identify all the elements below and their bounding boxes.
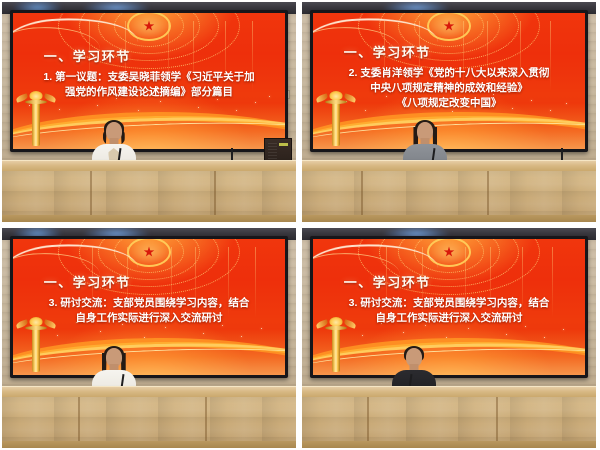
slide-body-line: 《八项规定改变中国》 xyxy=(327,96,572,111)
meeting-room-background: 一、学习环节 3. 研讨交流：支部党员围绕学习内容，结合 自身工作实际进行深入交… xyxy=(2,228,296,448)
slide-body-line: 强党的作风建设论述摘编》部分篇目 xyxy=(27,85,272,100)
photo-collage: 一、学习环节 1. 第一议题：支委吴晓菲领学《习近平关于加 强党的作风建设论述摘… xyxy=(0,0,600,450)
photo-panel-bottom-left: 一、学习环节 3. 研讨交流：支部党员围绕学习内容，结合 自身工作实际进行深入交… xyxy=(2,228,296,448)
slide-text-block: 一、学习环节 1. 第一议题：支委吴晓菲领学《习近平关于加 强党的作风建设论述摘… xyxy=(13,46,285,100)
meeting-room-background: 一、学习环节 1. 第一议题：支委吴晓菲领学《习近平关于加 强党的作风建设论述摘… xyxy=(2,2,296,222)
slide-text-block: 一、学习环节 2. 支委肖洋领学《党的十八大以来深入贯彻 中央八项规定精神的成效… xyxy=(313,42,585,112)
slide-title: 一、学习环节 xyxy=(44,272,272,291)
photo-panel-bottom-right: 一、学习环节 3. 研讨交流：支部党员围绕学习内容，结合 自身工作实际进行深入交… xyxy=(302,228,596,448)
red-star-icon xyxy=(144,247,155,258)
slide-body-line: 自身工作实际进行深入交流研讨 xyxy=(327,311,572,326)
slide-body-line: 3. 研讨交流：支部党员围绕学习内容，结合 xyxy=(27,296,272,311)
led-screen: 一、学习环节 1. 第一议题：支委吴晓菲领学《习近平关于加 强党的作风建设论述摘… xyxy=(13,13,285,149)
red-star-icon xyxy=(444,21,455,32)
photo-panel-top-left: 一、学习环节 1. 第一议题：支委吴晓菲领学《习近平关于加 强党的作风建设论述摘… xyxy=(2,2,296,222)
slide-title: 一、学习环节 xyxy=(344,42,572,61)
led-screen-bezel: 一、学习环节 3. 研讨交流：支部党员围绕学习内容，结合 自身工作实际进行深入交… xyxy=(310,236,588,378)
slide-body: 3. 研讨交流：支部党员围绕学习内容，结合 自身工作实际进行深入交流研讨 xyxy=(327,296,572,326)
meeting-room-background: 一、学习环节 3. 研讨交流：支部党员围绕学习内容，结合 自身工作实际进行深入交… xyxy=(302,228,596,448)
slide-title: 一、学习环节 xyxy=(44,46,272,65)
led-screen-bezel: 一、学习环节 3. 研讨交流：支部党员围绕学习内容，结合 自身工作实际进行深入交… xyxy=(10,236,288,378)
red-star-icon xyxy=(144,21,155,32)
slide-text-block: 一、学习环节 3. 研讨交流：支部党员围绕学习内容，结合 自身工作实际进行深入交… xyxy=(313,272,585,326)
slide-body-line: 中央八项规定精神的成效和经验》 xyxy=(327,81,572,96)
slide-body: 2. 支委肖洋领学《党的十八大以来深入贯彻 中央八项规定精神的成效和经验》 《八… xyxy=(327,66,572,112)
amplifier-badge xyxy=(279,143,288,146)
slide-body: 3. 研讨交流：支部党员围绕学习内容，结合 自身工作实际进行深入交流研讨 xyxy=(27,296,272,326)
led-screen-bezel: 一、学习环节 1. 第一议题：支委吴晓菲领学《习近平关于加 强党的作风建设论述摘… xyxy=(10,10,288,152)
rostrum-desk xyxy=(2,160,296,222)
slide-title: 一、学习环节 xyxy=(344,272,572,291)
led-screen: 一、学习环节 3. 研讨交流：支部党员围绕学习内容，结合 自身工作实际进行深入交… xyxy=(13,239,285,375)
slide-body-line: 自身工作实际进行深入交流研讨 xyxy=(27,311,272,326)
rostrum-desk xyxy=(302,386,596,448)
photo-panel-top-right: 一、学习环节 2. 支委肖洋领学《党的十八大以来深入贯彻 中央八项规定精神的成效… xyxy=(302,2,596,222)
slide-body: 1. 第一议题：支委吴晓菲领学《习近平关于加 强党的作风建设论述摘编》部分篇目 xyxy=(27,70,272,100)
slide-body-line: 1. 第一议题：支委吴晓菲领学《习近平关于加 xyxy=(27,70,272,85)
slide-body-line: 3. 研讨交流：支部党员围绕学习内容，结合 xyxy=(327,296,572,311)
rostrum-desk xyxy=(302,160,596,222)
meeting-room-background: 一、学习环节 2. 支委肖洋领学《党的十八大以来深入贯彻 中央八项规定精神的成效… xyxy=(302,2,596,222)
red-star-icon xyxy=(444,247,455,258)
led-screen: 一、学习环节 3. 研讨交流：支部党员围绕学习内容，结合 自身工作实际进行深入交… xyxy=(313,239,585,375)
rostrum-desk xyxy=(2,386,296,448)
slide-text-block: 一、学习环节 3. 研讨交流：支部党员围绕学习内容，结合 自身工作实际进行深入交… xyxy=(13,272,285,326)
slide-body-line: 2. 支委肖洋领学《党的十八大以来深入贯彻 xyxy=(327,66,572,81)
